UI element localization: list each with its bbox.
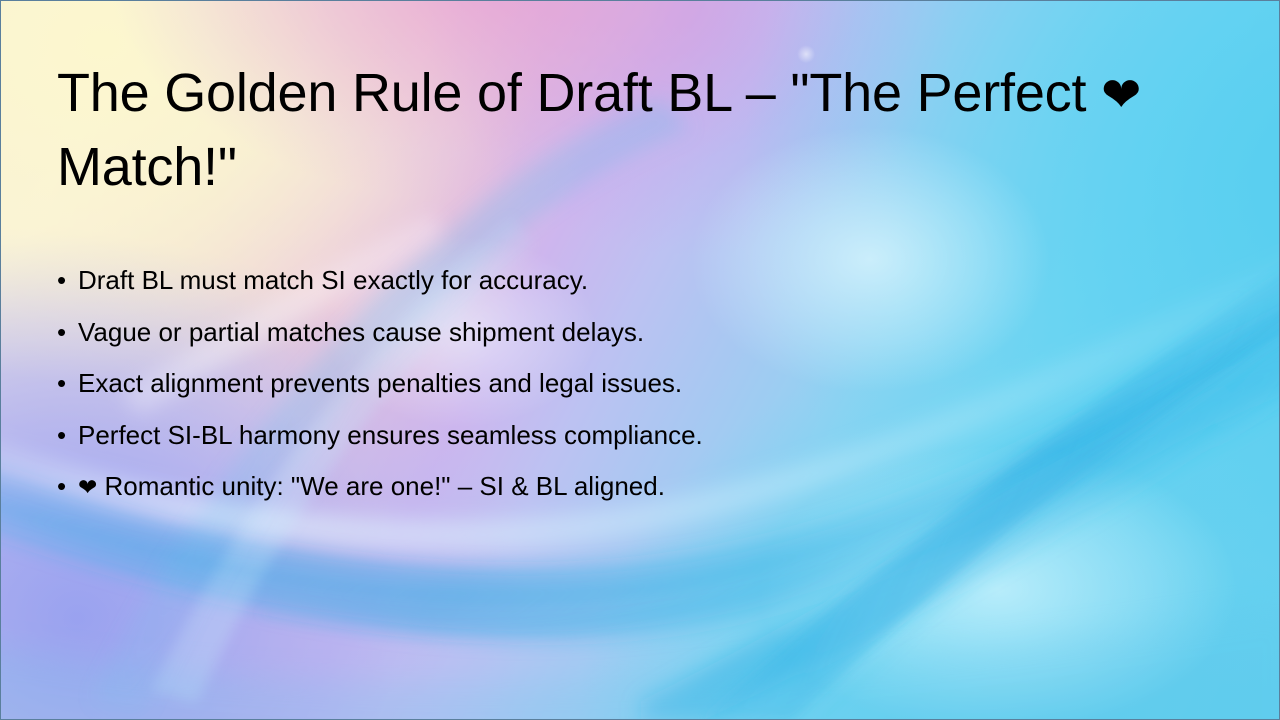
bullet-list: • Draft BL must match SI exactly for acc… [57,263,1137,521]
list-item-text: Exact alignment prevents penalties and l… [78,366,1137,400]
bullet-marker-icon: • [57,263,78,297]
bullet-marker-icon: • [57,418,78,452]
bullet-marker-icon: • [57,315,78,349]
slide-content: The Golden Rule of Draft BL – "The Perfe… [1,1,1279,719]
list-item-text: Perfect SI-BL harmony ensures seamless c… [78,418,1137,452]
list-item-text: Draft BL must match SI exactly for accur… [78,263,1137,297]
bullet-marker-icon: • [57,469,78,503]
list-item: • Exact alignment prevents penalties and… [57,366,1137,418]
list-item: • Draft BL must match SI exactly for acc… [57,263,1137,315]
presentation-slide: The Golden Rule of Draft BL – "The Perfe… [0,0,1280,720]
list-item-text: Vague or partial matches cause shipment … [78,315,1137,349]
heart-icon: ❤ [78,475,97,501]
list-item-text: ❤ Romantic unity: "We are one!" – SI & B… [78,469,1137,505]
bullet-marker-icon: • [57,366,78,400]
list-item: • ❤ Romantic unity: "We are one!" – SI &… [57,469,1137,521]
list-item: • Vague or partial matches cause shipmen… [57,315,1137,367]
heart-icon: ❤ [1101,67,1141,123]
slide-title: The Golden Rule of Draft BL – "The Perfe… [57,57,1217,203]
list-item: • Perfect SI-BL harmony ensures seamless… [57,418,1137,470]
